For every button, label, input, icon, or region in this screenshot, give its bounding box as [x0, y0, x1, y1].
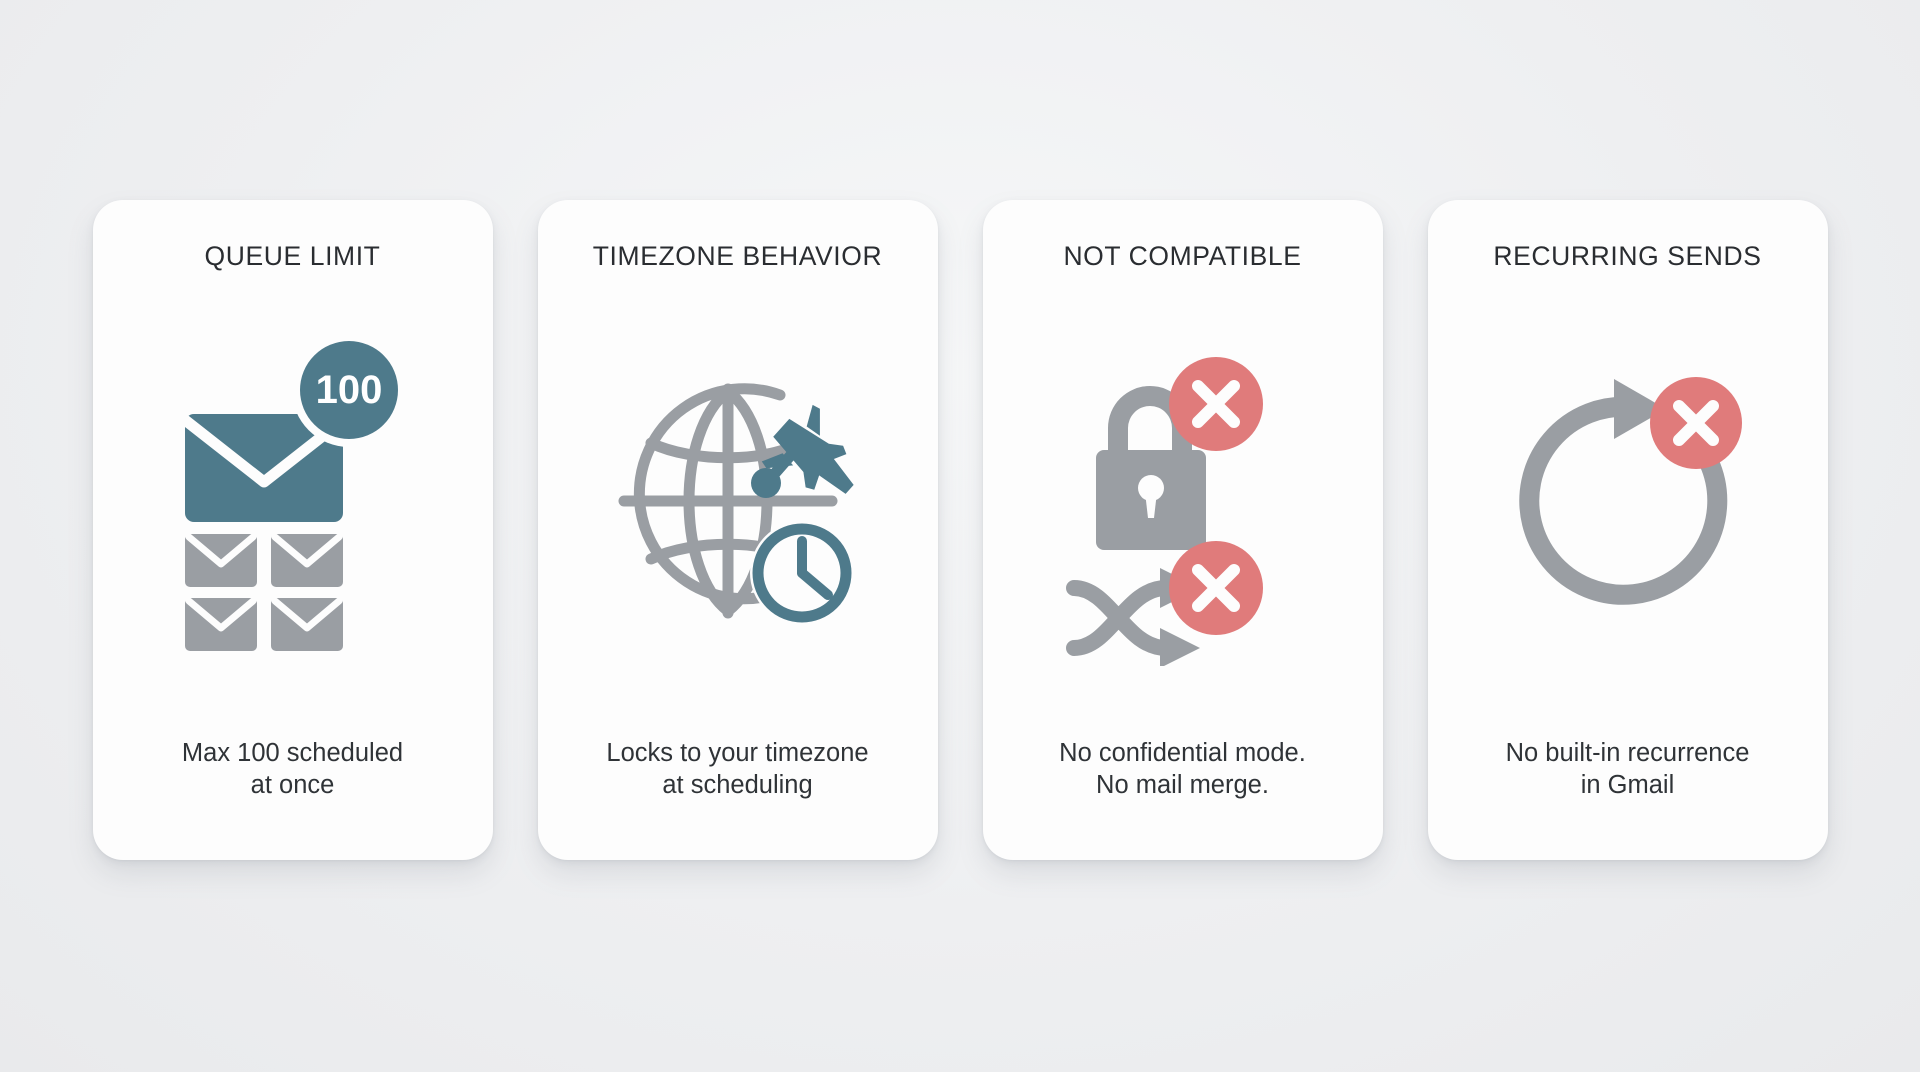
padlock-and-shuffle-blocked-icon [1048, 336, 1318, 666]
card-caption: Locks to your timezone at scheduling [606, 737, 868, 816]
small-envelope [271, 598, 343, 651]
blocked-badge-lock [1169, 357, 1263, 451]
icon-zone [560, 271, 916, 737]
card-title: RECURRING SENDS [1493, 242, 1761, 271]
card-recurring-sends[interactable]: RECURRING SENDS No built-in recurrence i… [1428, 200, 1828, 860]
circular-arrow-blocked-icon [1488, 361, 1768, 641]
icon-zone [1005, 271, 1361, 737]
card-title: TIMEZONE BEHAVIOR [593, 242, 882, 271]
card-title: QUEUE LIMIT [205, 242, 381, 271]
small-envelope [185, 598, 257, 651]
card-caption: Max 100 scheduled at once [182, 737, 403, 816]
card-timezone-behavior[interactable]: TIMEZONE BEHAVIOR [538, 200, 938, 860]
count-badge: 100 [300, 341, 398, 439]
envelope-stack-with-count-badge-icon: 100 [163, 336, 423, 666]
card-title: NOT COMPATIBLE [1063, 242, 1301, 271]
shuffle-icon [1074, 588, 1166, 648]
small-envelope [271, 534, 343, 587]
small-envelope [185, 534, 257, 587]
blocked-badge-shuffle [1169, 541, 1263, 635]
small-envelope-grid [185, 534, 343, 651]
blocked-badge-recurrence [1650, 377, 1742, 469]
icon-zone [1450, 271, 1806, 737]
count-badge-label: 100 [315, 368, 382, 412]
globe-airplane-clock-icon [588, 351, 888, 651]
card-caption: No confidential mode. No mail merge. [1059, 737, 1306, 816]
feature-cards-row: QUEUE LIMIT 100 [55, 200, 1865, 860]
card-caption: No built-in recurrence in Gmail [1506, 737, 1750, 816]
icon-zone: 100 [115, 271, 471, 737]
card-queue-limit[interactable]: QUEUE LIMIT 100 [93, 200, 493, 860]
clock-icon [750, 521, 854, 625]
card-not-compatible[interactable]: NOT COMPATIBLE [983, 200, 1383, 860]
